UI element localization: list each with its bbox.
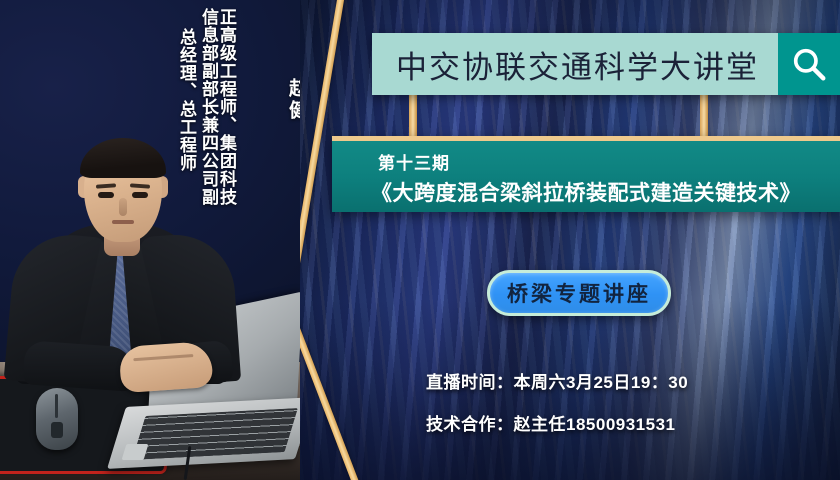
laptop-keyboard bbox=[132, 408, 298, 460]
clasped-hands bbox=[119, 341, 214, 393]
episode-number: 第十三期 bbox=[378, 149, 840, 174]
search-icon-box[interactable] bbox=[778, 33, 840, 95]
computer-mouse bbox=[36, 388, 78, 450]
topic-badge-label: 桥梁专题讲座 bbox=[507, 278, 651, 308]
left-eye bbox=[98, 192, 114, 198]
gold-connector-left bbox=[409, 92, 417, 140]
search-icon bbox=[790, 45, 828, 83]
speaker-name: 赵健 bbox=[283, 78, 300, 122]
content-panel: 中交协联交通科学大讲堂 第十三期 《大跨度混合梁斜拉桥装配式建造关键技术》 桥梁… bbox=[300, 0, 840, 480]
program-title: 中交协联交通科学大讲堂 bbox=[396, 42, 759, 87]
webinar-poster: 总经理、总工程师 信息部副部长兼四公司副 正高级工程师、集团科技 赵健 中交协联… bbox=[0, 0, 840, 480]
episode-band: 第十三期 《大跨度混合梁斜拉桥装配式建造关键技术》 bbox=[332, 136, 840, 212]
gold-connector-right bbox=[700, 92, 708, 140]
contact-text: 技术合作：赵主任18500931531 bbox=[426, 410, 676, 435]
mouse-button bbox=[51, 422, 63, 438]
nose bbox=[119, 198, 127, 216]
live-time-text: 直播时间：本周六3月25日19：30 bbox=[426, 368, 688, 393]
right-eye bbox=[132, 192, 148, 198]
hair bbox=[80, 138, 166, 178]
mouth bbox=[112, 220, 134, 224]
speaker-credential-line-1: 正高级工程师、集团科技 bbox=[218, 8, 235, 206]
title-banner: 中交协联交通科学大讲堂 bbox=[372, 33, 840, 95]
title-banner-bar: 中交协联交通科学大讲堂 bbox=[372, 33, 778, 95]
topic-badge[interactable]: 桥梁专题讲座 bbox=[487, 270, 671, 316]
episode-title: 《大跨度混合梁斜拉桥装配式建造关键技术》 bbox=[332, 177, 840, 207]
speaker-panel: 总经理、总工程师 信息部副部长兼四公司副 正高级工程师、集团科技 赵健 bbox=[0, 0, 300, 480]
left-arm bbox=[23, 340, 136, 392]
speaker-photo bbox=[0, 120, 300, 480]
